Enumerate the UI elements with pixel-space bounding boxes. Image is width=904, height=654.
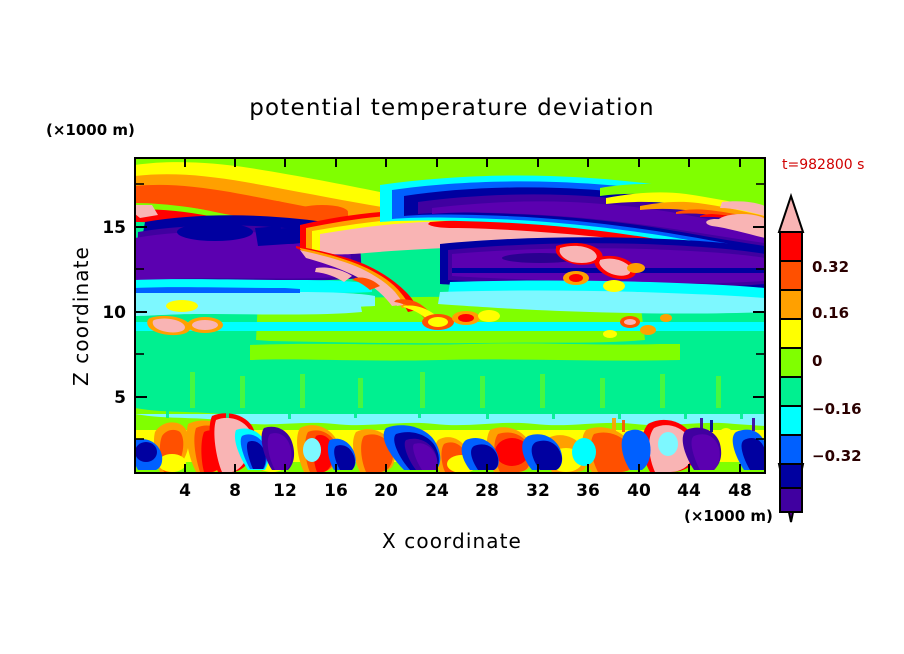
colorbar-swatch [780, 261, 802, 290]
colorbar-tick-label: 0.16 [812, 304, 849, 322]
colorbar-swatch [780, 319, 802, 348]
plot-title: potential temperature deviation [249, 95, 655, 121]
core-red-a [154, 191, 214, 205]
blob-navy-a [177, 223, 253, 241]
colorbar-swatch [780, 290, 802, 319]
speck-warm-f [458, 314, 474, 322]
colorbar-swatch [780, 435, 802, 464]
x-tick-label: 48 [728, 481, 752, 501]
colorbar-tick-label: −0.32 [812, 447, 862, 465]
blob-left-mid-pink-2 [192, 320, 218, 330]
colorbar-swatches [780, 232, 802, 493]
frag-red-c [569, 274, 583, 282]
layer-blue-left-thin [135, 287, 300, 293]
x-tick-label: 44 [677, 481, 701, 501]
colorbar-tick-label: 0.32 [812, 258, 849, 276]
speck-warm-d [428, 317, 448, 327]
colorbar-swatch-navy-low [780, 464, 802, 488]
y-tick-label: 10 [102, 303, 126, 323]
x-axis-unit-label: (×1000 m) [684, 507, 773, 525]
x-tick-label: 4 [179, 481, 191, 501]
x-tick-label: 40 [627, 481, 651, 501]
x-axis-title: X coordinate [382, 529, 522, 553]
band-mid-green-slab-b [250, 343, 680, 360]
time-annotation: t=982800 s [782, 157, 864, 173]
colorbar-swatch [780, 377, 802, 406]
speck-right-b [624, 319, 636, 325]
frag-orange-b [627, 263, 645, 273]
x-tick-label: 36 [576, 481, 600, 501]
speck-warm-g [478, 310, 500, 322]
speck-right-e [660, 314, 672, 322]
x-tick-label: 12 [273, 481, 297, 501]
y-axis-title: Z coordinate [69, 246, 93, 386]
colorbar-swatch-indigo-low [780, 488, 802, 512]
frag-yellow-a [603, 280, 625, 292]
x-tick-label: 16 [324, 481, 348, 501]
x-tick-label: 20 [374, 481, 398, 501]
y-tick-label: 15 [102, 218, 126, 238]
x-tick-label: 8 [229, 481, 241, 501]
core-red-b [234, 200, 290, 214]
colorbar-swatch [780, 406, 802, 435]
core-red-c [296, 205, 348, 219]
colorbar-tick-label: −0.16 [812, 400, 862, 418]
x-tick-label: 24 [425, 481, 449, 501]
blob-left-mid-yellow [166, 300, 198, 312]
speck-right-c [640, 325, 656, 335]
speck-right-d [603, 330, 617, 338]
colorbar-tick-label: 0 [812, 352, 822, 370]
colorbar-swatch [780, 232, 802, 261]
contour-plot-figure: potential temperature deviation (×1000 m… [0, 0, 904, 654]
x-tick-label: 32 [526, 481, 550, 501]
contour-field [132, 158, 767, 473]
y-axis-unit-label: (×1000 m) [46, 121, 135, 139]
colorbar-swatch [780, 348, 802, 377]
y-tick-label: 5 [114, 388, 126, 408]
x-tick-label: 28 [475, 481, 499, 501]
